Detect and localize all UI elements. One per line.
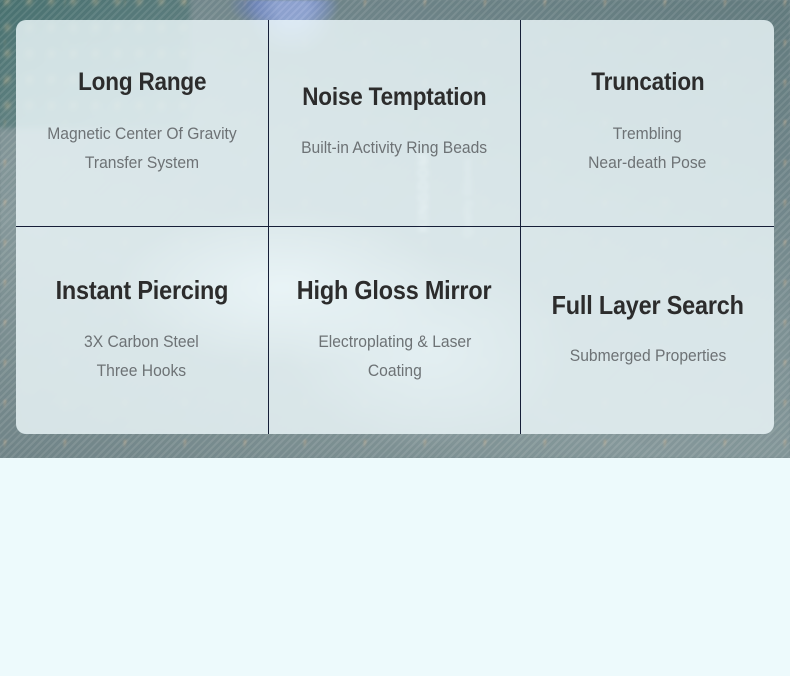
feature-title: Long Range xyxy=(78,69,206,97)
feature-title: Full Layer Search xyxy=(552,291,744,320)
feature-subtitle: Trembling Near-death Pose xyxy=(589,119,707,177)
feature-subtitle: Magnetic Center Of Gravity Transfer Syst… xyxy=(47,119,236,177)
feature-subtitle: Submerged Properties xyxy=(569,341,725,370)
feature-title: Noise Temptation xyxy=(302,84,486,112)
product-feature-page: KINGDOM Quality Gloves Long Range Magnet… xyxy=(0,0,790,676)
feature-cell-noise-temptation: Noise Temptation Built-in Activity Ring … xyxy=(269,20,522,227)
product-parameters-section: PRODUCT SPECIFICATION Product Parameters xyxy=(0,458,790,676)
feature-cell-high-gloss-mirror: High Gloss Mirror Electroplating & Laser… xyxy=(269,227,522,434)
feature-cell-instant-piercing: Instant Piercing 3X Carbon Steel Three H… xyxy=(16,227,269,434)
feature-title: High Gloss Mirror xyxy=(297,276,492,305)
feature-cell-full-layer-search: Full Layer Search Submerged Properties xyxy=(521,227,774,434)
feature-grid-panel: Long Range Magnetic Center Of Gravity Tr… xyxy=(16,20,774,434)
feature-cell-truncation: Truncation Trembling Near-death Pose xyxy=(521,20,774,227)
hero-section: KINGDOM Quality Gloves Long Range Magnet… xyxy=(0,0,790,458)
feature-title: Truncation xyxy=(591,69,704,97)
feature-cell-long-range: Long Range Magnetic Center Of Gravity Tr… xyxy=(16,20,269,227)
feature-title: Instant Piercing xyxy=(55,276,228,305)
feature-subtitle: 3X Carbon Steel Three Hooks xyxy=(84,327,199,385)
feature-subtitle: Electroplating & Laser Coating xyxy=(292,327,498,385)
feature-subtitle: Built-in Activity Ring Beads xyxy=(301,133,487,162)
